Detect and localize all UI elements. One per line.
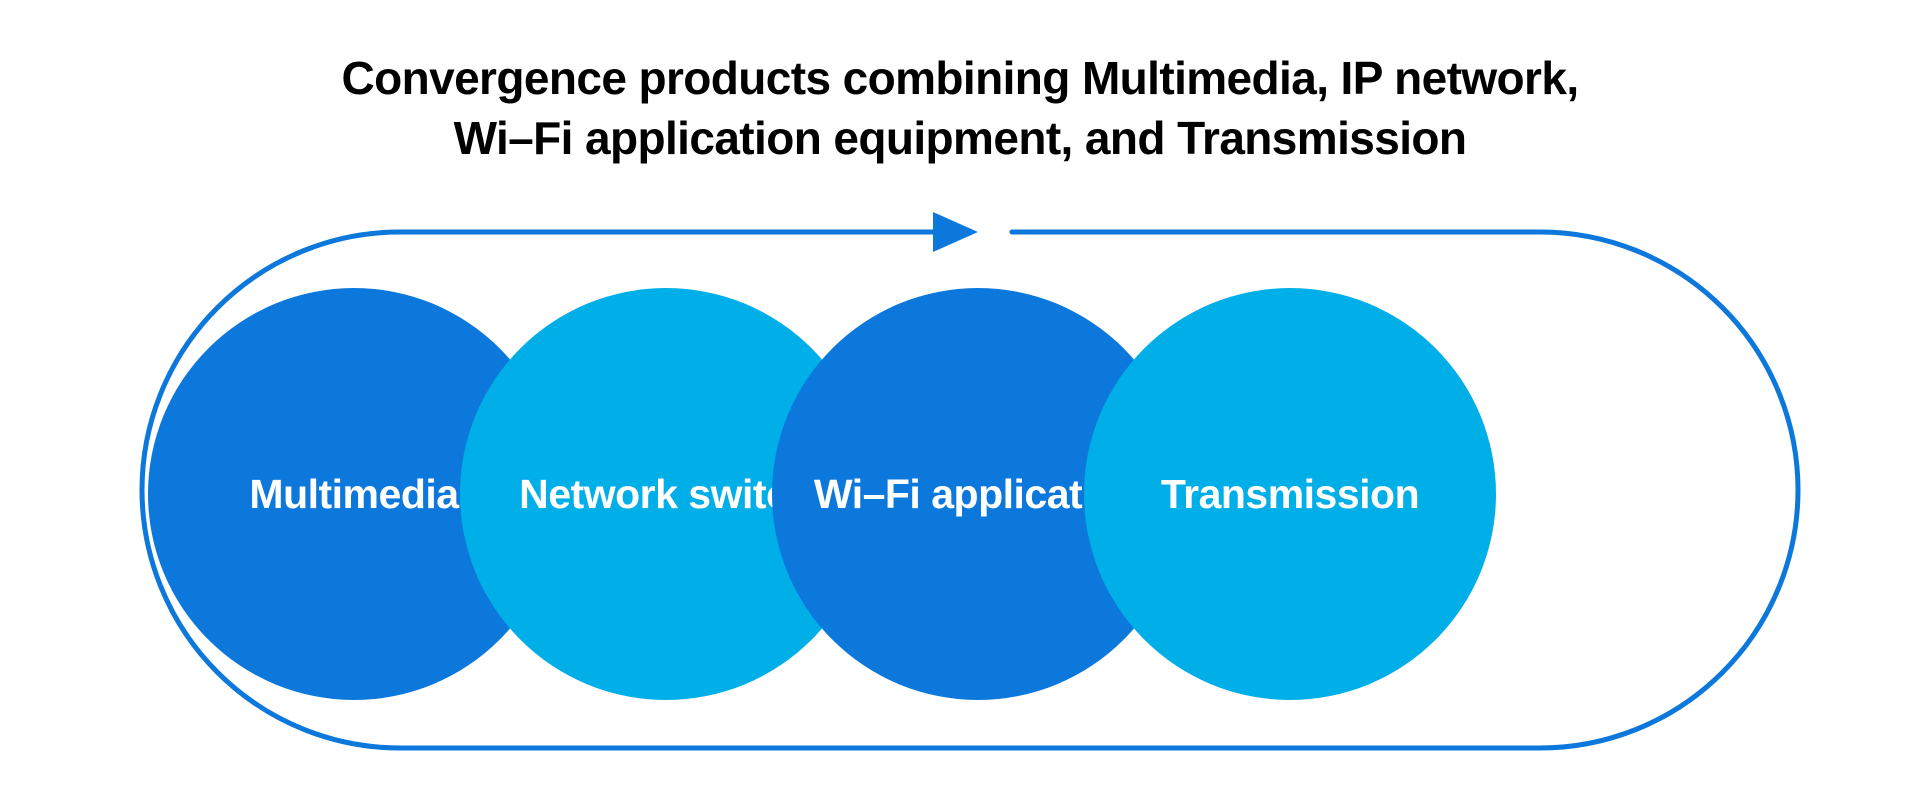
node-label-transmission: Transmission — [1161, 474, 1419, 515]
node-label-network-switch: Network switch — [519, 474, 813, 515]
diagram-canvas: Convergence products combining Multimedi… — [0, 0, 1920, 810]
node-row: Multimedia Network switch Wi–Fi applicat… — [0, 0, 1920, 810]
node-circle-transmission[interactable]: Transmission — [1084, 288, 1496, 700]
node-label-multimedia: Multimedia — [249, 474, 458, 515]
